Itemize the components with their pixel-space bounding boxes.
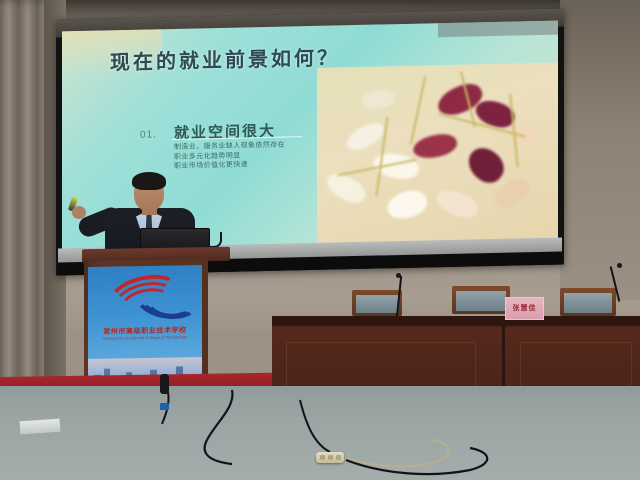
banner-college-name-en: Changzhou Vocational College of Technolo… [88, 335, 202, 341]
table-top-edge [272, 316, 640, 326]
slide-gray-tint [438, 21, 558, 38]
power-adapter [160, 374, 169, 394]
slide-bullets: 制造业、服务业缺人现象依然存在 职业多元化趋势明显 职业市场价值化更快速 [174, 141, 285, 172]
chair [560, 288, 616, 316]
microphone-head [396, 273, 401, 278]
power-strip [316, 452, 344, 463]
hall-floor [0, 386, 640, 480]
paper-on-floor [20, 419, 61, 435]
wall-right-section [560, 0, 640, 300]
speaker-hair [132, 172, 166, 190]
name-plate: 张慧佳 [505, 297, 544, 320]
slide-item-number: 01. [140, 129, 157, 140]
laptop-cable [206, 232, 222, 248]
microphone-head [617, 263, 622, 268]
chair [452, 286, 510, 314]
slide-floral-photo [317, 63, 558, 244]
blue-connector [160, 403, 169, 410]
chair [352, 290, 402, 316]
slide-bullet: 职业市场价值化更快速 [174, 160, 285, 172]
name-plate-text: 张慧佳 [506, 303, 543, 313]
photo-scene: 现在的就业前景如何？ 01. 就业空间很大 制造业、服务业缺人现象依然存在 职业… [0, 0, 640, 480]
speaker-hand [72, 206, 86, 219]
